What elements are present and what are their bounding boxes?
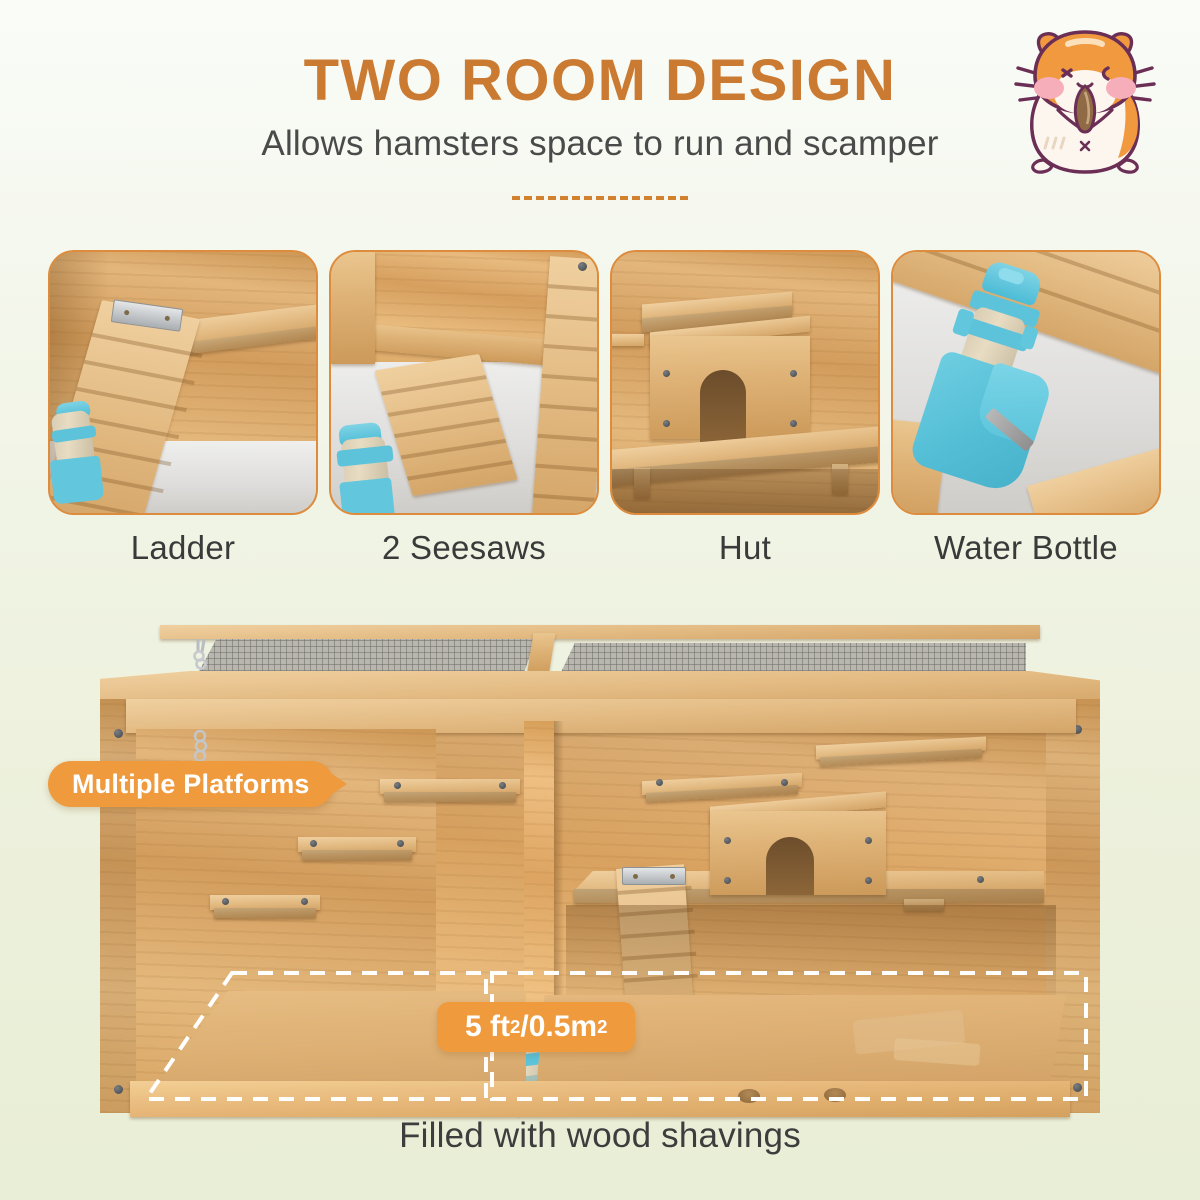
feature-card-seesaws[interactable]: 2 Seesaws xyxy=(329,250,599,567)
badge-floor-area: 5 ft2 / 0.5m2 xyxy=(437,1002,635,1052)
feature-image-hut xyxy=(610,250,880,515)
feature-label-hut: Hut xyxy=(610,529,880,567)
badge-pointer-icon xyxy=(332,774,347,794)
hut-structure xyxy=(650,324,810,439)
header: TWO ROOM DESIGN Allows hamsters space to… xyxy=(0,0,1200,230)
badge-area-sup1: 2 xyxy=(510,1016,520,1038)
badge-platforms-label: Multiple Platforms xyxy=(72,769,310,800)
badge-area-separator: / xyxy=(520,1010,528,1044)
feature-card-hut[interactable]: Hut xyxy=(610,250,880,567)
feature-image-seesaws xyxy=(329,250,599,515)
badge-area-sup2: 2 xyxy=(597,1016,607,1038)
feature-label-ladder: Ladder xyxy=(48,529,318,567)
feature-image-ladder xyxy=(48,250,318,515)
feature-image-water-bottle xyxy=(891,250,1161,515)
badge-multiple-platforms: Multiple Platforms xyxy=(48,761,334,807)
feature-label-seesaws: 2 Seesaws xyxy=(329,529,599,567)
dashed-divider xyxy=(512,196,688,200)
feature-label-water-bottle: Water Bottle xyxy=(891,529,1161,567)
feature-card-water-bottle[interactable]: Water Bottle xyxy=(891,250,1161,567)
footer-caption: Filled with wood shavings xyxy=(0,1116,1200,1156)
badge-area-value: 5 ft xyxy=(465,1010,510,1044)
hamster-mascot-icon xyxy=(1000,18,1170,188)
badge-area-value2: 0.5m xyxy=(529,1010,597,1044)
feature-card-ladder[interactable]: Ladder xyxy=(48,250,318,567)
feature-cards: Ladder xyxy=(0,250,1200,575)
